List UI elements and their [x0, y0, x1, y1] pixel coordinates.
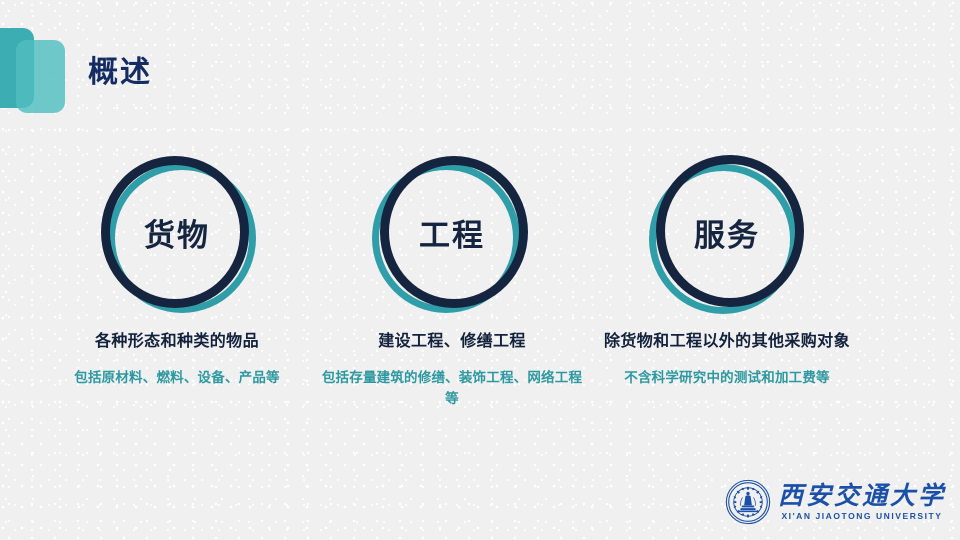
column-goods: 货物 各种形态和种类的物品 包括原材料、燃料、设备、产品等 — [17, 150, 337, 389]
content-columns: 货物 各种形态和种类的物品 包括原材料、燃料、设备、产品等 工程 建设工程、修缮… — [0, 150, 960, 450]
university-logo-text: 西安交通大学 XI'AN JIAOTONG UNIVERSITY — [778, 483, 946, 521]
ring-goods: 货物 — [92, 150, 262, 320]
column-services: 服务 除货物和工程以外的其他采购对象 不含科学研究中的测试和加工费等 — [567, 150, 887, 389]
column-engineering: 工程 建设工程、修缮工程 包括存量建筑的修缮、装饰工程、网络工程等 — [292, 150, 612, 410]
ring-label-services: 服务 — [642, 150, 812, 314]
slide-canvas: 概述 货物 各种形态和种类的物品 包括原材料、燃料、设备、产品等 工程 建设工程… — [0, 0, 960, 540]
ring-services: 服务 — [642, 150, 812, 320]
page-title: 概述 — [88, 58, 152, 88]
university-logo: 西安交通大学 XI'AN JIAOTONG UNIVERSITY — [725, 476, 946, 528]
caption-main-services: 除货物和工程以外的其他采购对象 — [567, 332, 887, 353]
ring-label-goods: 货物 — [92, 150, 262, 314]
corner-decoration — [0, 28, 78, 122]
ring-label-engineering: 工程 — [367, 150, 537, 314]
university-name-cn: 西安交通大学 — [778, 483, 946, 509]
caption-sub-engineering: 包括存量建筑的修缮、装饰工程、网络工程等 — [292, 368, 612, 410]
ring-engineering: 工程 — [367, 150, 537, 320]
university-seal-icon — [725, 479, 771, 525]
caption-sub-services: 不含科学研究中的测试和加工费等 — [567, 368, 887, 389]
university-name-en: XI'AN JIAOTONG UNIVERSITY — [778, 511, 946, 521]
caption-main-goods: 各种形态和种类的物品 — [17, 332, 337, 353]
rounded-square-teal-light-icon — [16, 40, 65, 113]
caption-main-engineering: 建设工程、修缮工程 — [292, 332, 612, 353]
caption-sub-goods: 包括原材料、燃料、设备、产品等 — [17, 368, 337, 389]
